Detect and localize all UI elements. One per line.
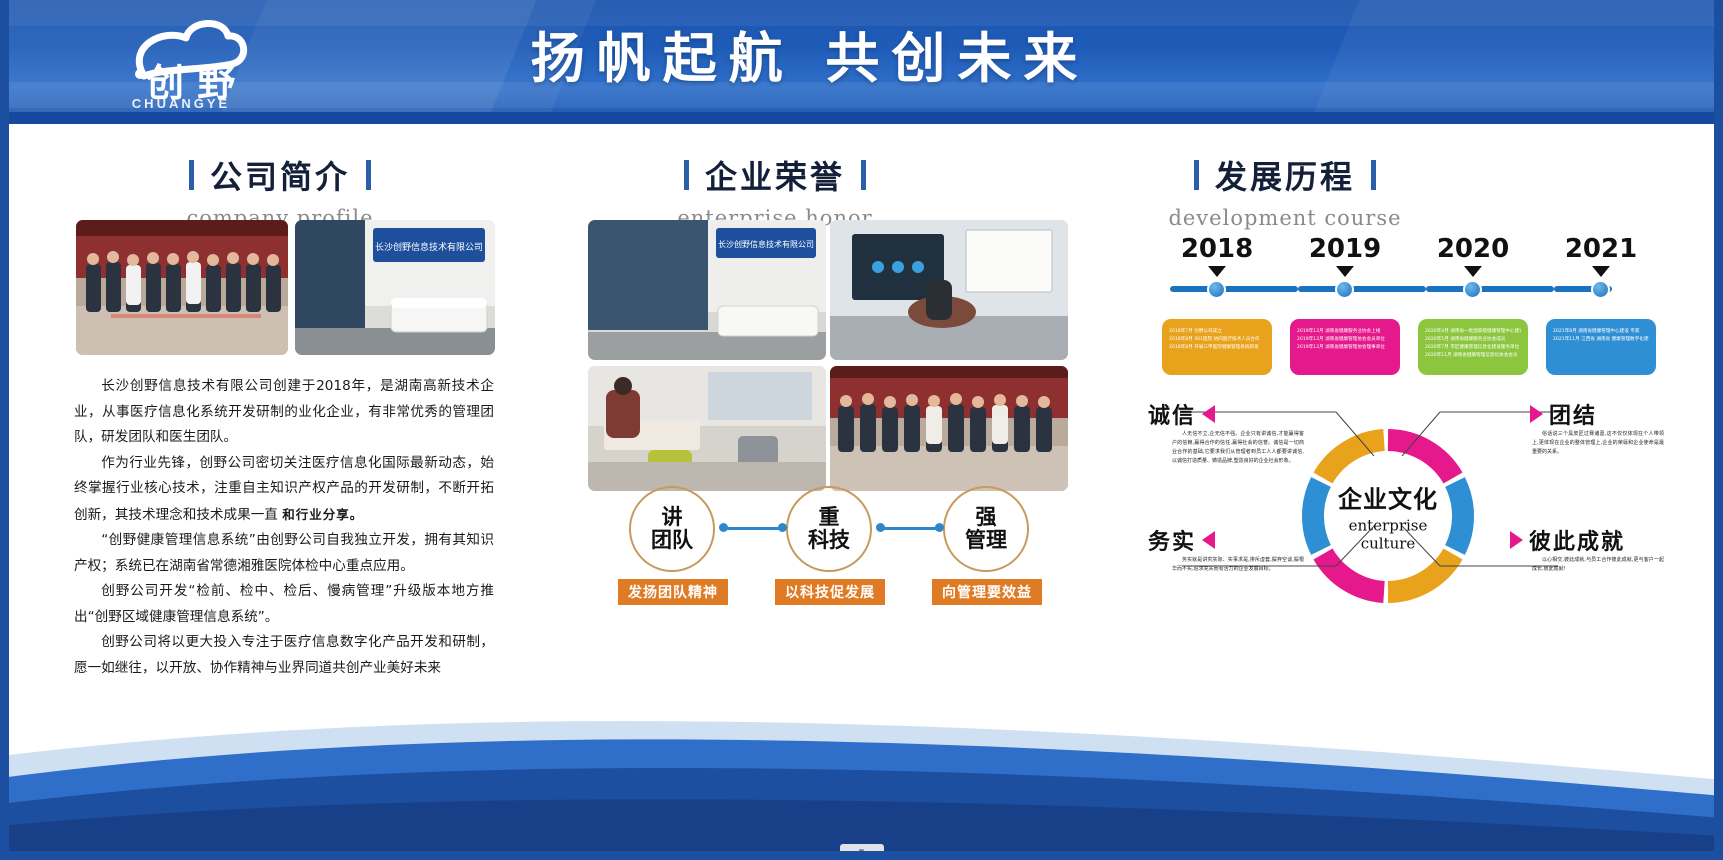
timeline-card-2018: 2018年7月 创野公司成立 2018年8月 301医院 协同医疗技术人员合作 … bbox=[1162, 319, 1272, 375]
culture-body-mutual-achievement: 以心相交,彼此成就,与员工合作彼此成就,更与客户一起成长,彼此成就! bbox=[1532, 556, 1664, 574]
timeline-card-line: 2020年5月 湖南省健康服务业协会成员 bbox=[1425, 336, 1521, 344]
title-bar-right bbox=[1371, 160, 1376, 190]
arrow-right-icon bbox=[1510, 531, 1523, 549]
timeline-card-2021: 2021年8月 湖南省健康管理中心建设 专家 2021年11月 江西省 湖南省 … bbox=[1546, 319, 1656, 375]
timeline-caret bbox=[1464, 266, 1482, 277]
culture-body-unity: 俗话说三个臭皮匠过赛诸葛,这不仅仅体现在个人带领上,更体现在企业的整体管理上,企… bbox=[1532, 430, 1664, 457]
profile-paragraph: 创野公司开发“检前、检中、检后、慢病管理”升级版本地方推出“创野区域健康管理信息… bbox=[74, 579, 494, 630]
timeline-rail-1 bbox=[1170, 286, 1298, 292]
profile-paragraph: 长沙创野信息技术有限公司创建于2018年，是湖南高新技术企业，从事医疗信息化系统… bbox=[74, 374, 494, 451]
section-title-company-profile: 公司简介 company profile bbox=[115, 152, 445, 230]
svg-text:长沙创野信息技术有限公司: 长沙创野信息技术有限公司 bbox=[375, 241, 483, 253]
timeline-card-line: 2021年11月 江西省 湖南省 健康管理数字化建设推进服务单位 bbox=[1553, 336, 1649, 344]
section-title-cn: 公司简介 bbox=[210, 152, 350, 198]
poster-footer: ▾ bbox=[0, 700, 1723, 860]
culture-title-text: 诚信 bbox=[1148, 398, 1196, 430]
culture-title-pragmatism: 务实 bbox=[1148, 524, 1215, 556]
culture-body-pragmatism: 务实就是讲究实际、实事求是,排斥虚套,摒弃空谈,摒根华而不实,追求充实而有活力的… bbox=[1172, 556, 1304, 574]
culture-title-text: 团结 bbox=[1549, 398, 1597, 430]
svg-text:长沙创野信息技术有限公司: 长沙创野信息技术有限公司 bbox=[718, 239, 814, 249]
process-connector-2 bbox=[880, 527, 940, 530]
process-tag-team: 发扬团队精神 bbox=[618, 579, 728, 605]
timeline-node-2021 bbox=[1591, 280, 1610, 299]
photo-office-reception: 长沙创野信息技术有限公司 bbox=[295, 220, 495, 355]
photo-open-workspace bbox=[588, 366, 826, 491]
timeline-card-2019: 2019年12月 湖南省健康服务业协会上线 2019年12月 湖南省健康管理协会… bbox=[1290, 319, 1400, 375]
timeline-card-notch bbox=[1337, 319, 1353, 320]
process-connector-dot bbox=[935, 523, 944, 532]
timeline-caret bbox=[1208, 266, 1226, 277]
timeline-year-2020: 2020 bbox=[1418, 234, 1528, 264]
process-connector-dot bbox=[719, 523, 728, 532]
process-node-line2: 团队 bbox=[651, 529, 693, 552]
footer-wave-graphic bbox=[0, 700, 1723, 860]
timeline-caret bbox=[1592, 266, 1610, 277]
process-node-team: 讲 团队 bbox=[629, 486, 715, 572]
section-title-cn: 发展历程 bbox=[1215, 152, 1355, 198]
timeline-card-line: 2021年8月 湖南省健康管理中心建设 专家 bbox=[1553, 328, 1649, 336]
timeline-card-line: 2018年7月 创野公司成立 bbox=[1169, 328, 1265, 336]
brand-logo-en: CHUANGYE bbox=[86, 96, 276, 111]
timeline-year-2021: 2021 bbox=[1546, 234, 1656, 264]
process-node-tech: 重 科技 bbox=[786, 486, 872, 572]
section-title-en: development course bbox=[1110, 206, 1460, 230]
poster-header: 创 野 CHUANGYE 扬帆起航 共创未来 bbox=[0, 0, 1723, 124]
arrow-left-icon bbox=[1202, 531, 1215, 549]
title-bar-right bbox=[366, 160, 371, 190]
title-bar-left bbox=[1194, 160, 1199, 190]
process-connector-dot bbox=[778, 523, 787, 532]
photo-presentation-room bbox=[830, 220, 1068, 360]
timeline-card-line: 2020年4月 湖南省一批国家级健康管理中心建设 bbox=[1425, 328, 1521, 336]
header-underline bbox=[0, 112, 1723, 124]
process-connector-dot bbox=[876, 523, 885, 532]
timeline-card-notch bbox=[1465, 319, 1481, 320]
border-right bbox=[1714, 0, 1723, 860]
photo-award-ceremony bbox=[830, 366, 1068, 491]
process-node-management: 强 管理 bbox=[943, 486, 1029, 572]
culture-title-mutual-achievement: 彼此成就 bbox=[1510, 524, 1625, 556]
process-node-line2: 管理 bbox=[965, 529, 1007, 552]
timeline-card-notch bbox=[1209, 319, 1225, 320]
poster-title: 扬帆起航 共创未来 bbox=[430, 28, 1190, 90]
poster-board: 创 野 CHUANGYE 扬帆起航 共创未来 公司简介 company prof… bbox=[0, 0, 1723, 860]
section-title-enterprise-honor: 企业荣誉 enterprise honor bbox=[610, 152, 940, 230]
cloud-brand-icon: 创 野 bbox=[86, 10, 276, 102]
timeline-node-2018 bbox=[1207, 280, 1226, 299]
timeline-card-line: 2019年12月 湖南省健康服务业协会上线 bbox=[1297, 328, 1393, 336]
process-tag-management: 向管理要效益 bbox=[932, 579, 1042, 605]
culture-title-integrity: 诚信 bbox=[1148, 398, 1215, 430]
profile-paragraph: 创野公司将以更大投入专注于医疗信息数字化产品开发和研制，愿一如继往，以开放、协作… bbox=[74, 630, 494, 681]
timeline-card-line: 2019年12月 湖南省健康管理协会理事单位 bbox=[1297, 344, 1393, 352]
title-bar-left bbox=[684, 160, 689, 190]
culture-title-unity: 团结 bbox=[1530, 398, 1597, 430]
timeline-year-2019: 2019 bbox=[1290, 234, 1400, 264]
process-node-line1: 强 bbox=[976, 506, 997, 529]
photo-honor-lobby: 长沙创野信息技术有限公司 bbox=[588, 220, 826, 360]
timeline-year-2018: 2018 bbox=[1162, 234, 1272, 264]
timeline-card-line: 2018年8月 开展三甲医院健康管理系统研发 bbox=[1169, 344, 1265, 352]
timeline-card-line: 2018年8月 301医院 协同医疗技术人员合作 bbox=[1169, 336, 1265, 344]
border-bottom bbox=[0, 851, 1723, 860]
section-title-development-course: 发展历程 development course bbox=[1110, 152, 1460, 230]
brand-logo: 创 野 CHUANGYE bbox=[86, 10, 276, 114]
arrow-right-icon bbox=[1530, 405, 1543, 423]
timeline-card-line: 2020年11月 湖南省健康管理信息化协会会员 bbox=[1425, 352, 1521, 360]
timeline-card-notch bbox=[1593, 319, 1609, 320]
profile-handwritten-note: 和行业分享。 bbox=[282, 507, 363, 522]
profile-paragraph: “创野健康管理信息系统”由创野公司自我独立开发，拥有其知识产权；系统已在湖南省常… bbox=[74, 528, 494, 579]
timeline-card-2020: 2020年4月 湖南省一批国家级健康管理中心建设 2020年5月 湖南省健康服务… bbox=[1418, 319, 1528, 375]
company-profile-text: 长沙创野信息技术有限公司创建于2018年，是湖南高新技术企业，从事医疗信息化系统… bbox=[74, 374, 494, 681]
timeline-rail-3 bbox=[1426, 286, 1554, 292]
title-bar-left bbox=[189, 160, 194, 190]
timeline-card-line: 2019年12月 湖南省健康管理协会会员单位 bbox=[1297, 336, 1393, 344]
border-left bbox=[0, 0, 9, 860]
culture-title-text: 彼此成就 bbox=[1529, 524, 1625, 556]
process-node-line2: 科技 bbox=[808, 529, 850, 552]
process-node-line1: 重 bbox=[819, 506, 840, 529]
process-node-line1: 讲 bbox=[662, 506, 683, 529]
title-bar-right bbox=[861, 160, 866, 190]
process-connector-1 bbox=[723, 527, 783, 530]
process-tag-tech: 以科技促发展 bbox=[775, 579, 885, 605]
timeline-card-line: 2020年7月 市区健康管理信息化建设服务单位 bbox=[1425, 344, 1521, 352]
poster-body: 公司简介 company profile 企业荣誉 enterprise hon… bbox=[0, 124, 1723, 724]
timeline-rail-2 bbox=[1298, 286, 1426, 292]
timeline-node-2019 bbox=[1335, 280, 1354, 299]
culture-title-text: 务实 bbox=[1148, 524, 1196, 556]
arrow-left-icon bbox=[1202, 405, 1215, 423]
section-title-cn: 企业荣誉 bbox=[705, 152, 845, 198]
culture-body-integrity: 人无信不立,企无信不强。企业只有讲诚信,才能赢得客户的信赖,赢得合作的信任,赢得… bbox=[1172, 430, 1304, 466]
profile-paragraph: 作为行业先锋，创野公司密切关注医疗信息化国际最新动态，始终掌握行业核心技术，注重… bbox=[74, 451, 494, 529]
timeline-node-2020 bbox=[1463, 280, 1482, 299]
photo-team-group bbox=[76, 220, 288, 355]
timeline-caret bbox=[1336, 266, 1354, 277]
